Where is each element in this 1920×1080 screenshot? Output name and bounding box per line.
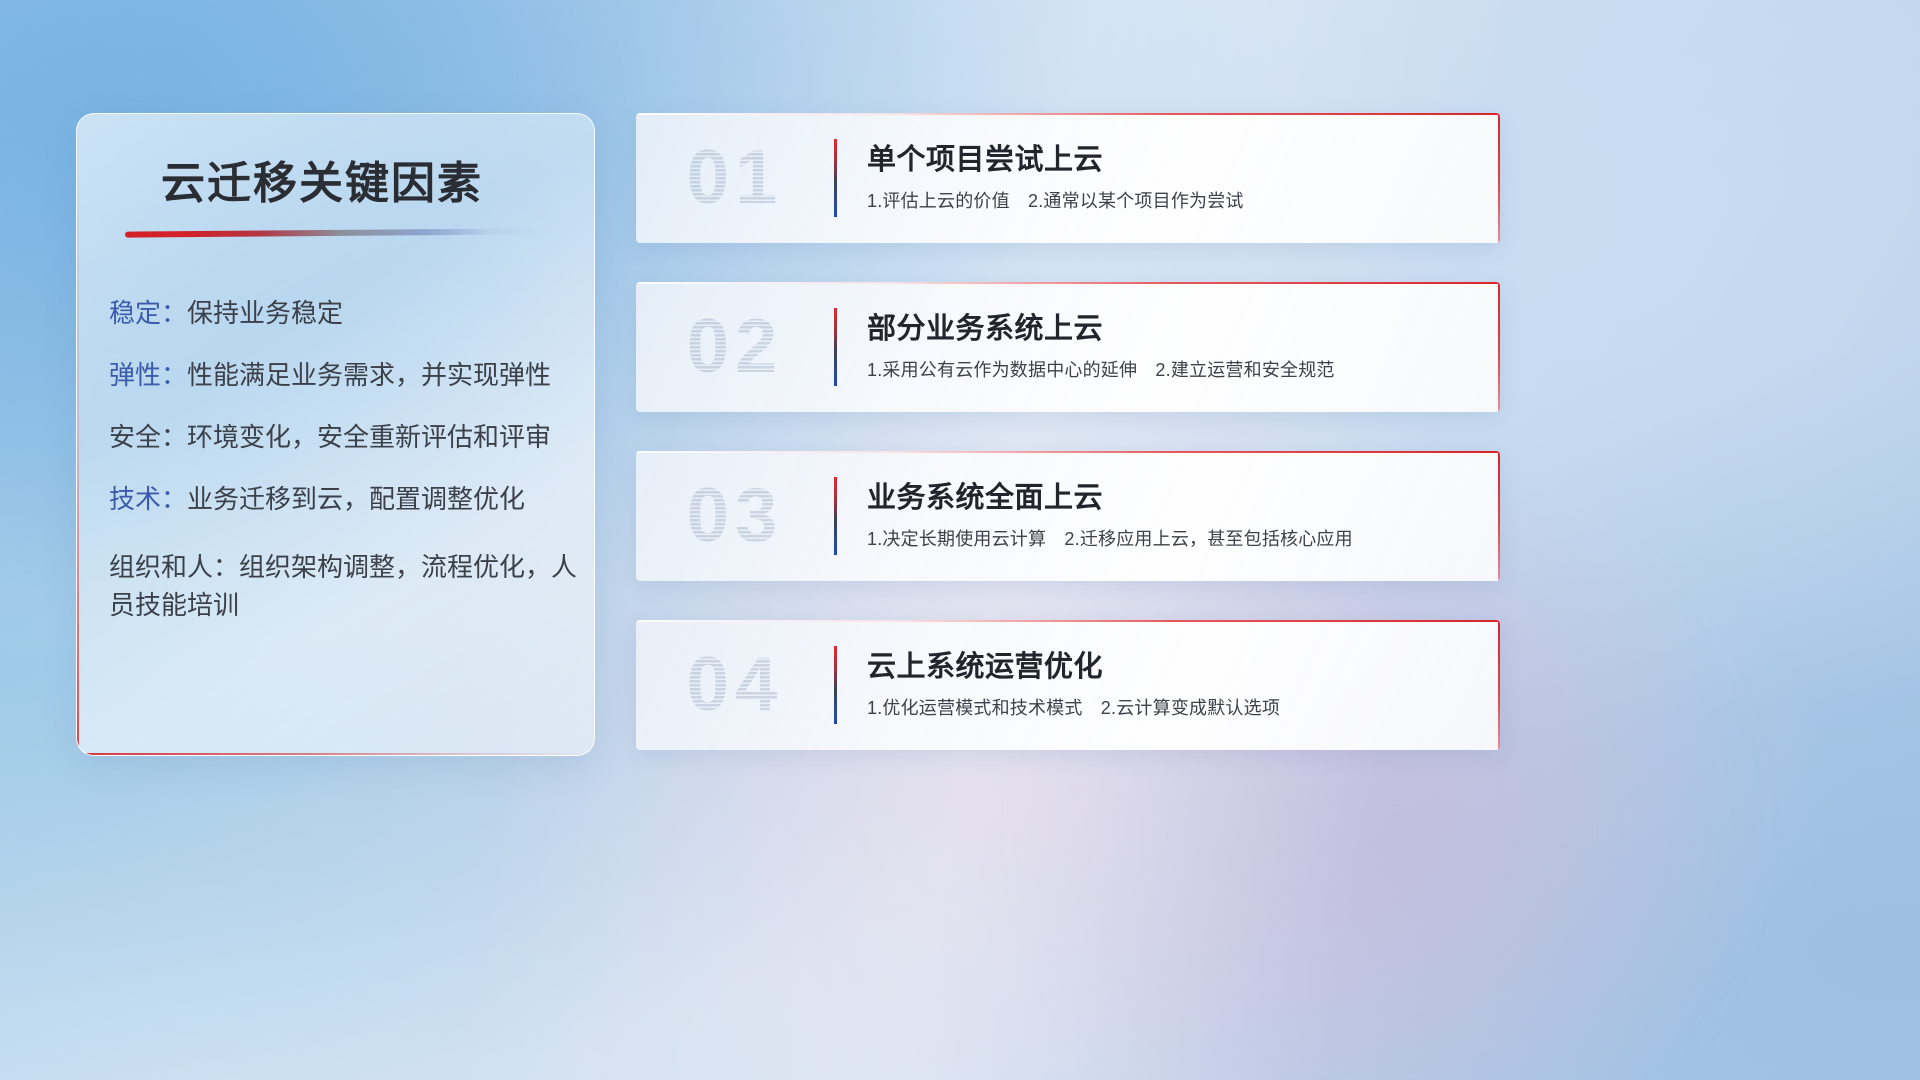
step-text-block: 部分业务系统上云 1.采用公有云作为数据中心的延伸 2.建立运营和安全规范 (867, 312, 1500, 381)
step-number: 02 (636, 282, 834, 412)
step-text-block: 云上系统运营优化 1.优化运营模式和技术模式 2.云计算变成默认选项 (867, 650, 1500, 719)
key-factors-list: 稳定：保持业务稳定 弹性：性能满足业务需求，并实现弹性 安全：环境变化，安全重新… (109, 300, 594, 625)
step-title: 部分业务系统上云 (867, 312, 1476, 347)
factor-key: 组织和人： (109, 552, 239, 582)
step-card[interactable]: 03 业务系统全面上云 1.决定长期使用云计算 2.迁移应用上云，甚至包括核心应… (636, 451, 1500, 581)
factor-value: 性能满足业务需求，并实现弹性 (187, 360, 551, 390)
step-subtitle: 1.采用公有云作为数据中心的延伸 2.建立运营和安全规范 (867, 360, 1476, 382)
factor-value: 保持业务稳定 (187, 298, 343, 328)
step-divider-bar (834, 139, 837, 217)
factor-key: 稳定： (109, 298, 187, 328)
page-title: 云迁移关键因素 (161, 162, 594, 206)
step-card[interactable]: 02 部分业务系统上云 1.采用公有云作为数据中心的延伸 2.建立运营和安全规范 (636, 282, 1500, 412)
slide-stage: 云迁移关键因素 稳定：保持业务稳定 弹性：性能满足业务需求，并实现弹性 安全：环… (0, 0, 1920, 1080)
step-text-block: 单个项目尝试上云 1.评估上云的价值 2.通常以某个项目作为尝试 (867, 143, 1500, 212)
step-title: 云上系统运营优化 (867, 650, 1476, 685)
step-subtitle: 1.决定长期使用云计算 2.迁移应用上云，甚至包括核心应用 (867, 529, 1476, 551)
migration-steps-list: 01 单个项目尝试上云 1.评估上云的价值 2.通常以某个项目作为尝试 02 部… (636, 113, 1500, 789)
step-subtitle: 1.优化运营模式和技术模式 2.云计算变成默认选项 (867, 698, 1476, 720)
step-divider-bar (834, 308, 837, 386)
factor-value: 业务迁移到云，配置调整优化 (187, 484, 525, 514)
step-number: 04 (636, 620, 834, 750)
step-text-block: 业务系统全面上云 1.决定长期使用云计算 2.迁移应用上云，甚至包括核心应用 (867, 481, 1500, 550)
list-item: 组织和人：组织架构调整，流程优化，人员技能培训 (109, 548, 594, 625)
list-item: 弹性：性能满足业务需求，并实现弹性 (109, 362, 594, 388)
step-number: 03 (636, 451, 834, 581)
factor-value: 环境变化，安全重新评估和评审 (187, 422, 551, 452)
step-card[interactable]: 04 云上系统运营优化 1.优化运营模式和技术模式 2.云计算变成默认选项 (636, 620, 1500, 750)
list-item: 技术：业务迁移到云，配置调整优化 (109, 486, 594, 512)
step-number: 01 (636, 113, 834, 243)
step-divider-bar (834, 477, 837, 555)
step-title: 业务系统全面上云 (867, 481, 1476, 516)
key-factors-panel: 云迁移关键因素 稳定：保持业务稳定 弹性：性能满足业务需求，并实现弹性 安全：环… (76, 113, 595, 756)
step-title: 单个项目尝试上云 (867, 143, 1476, 178)
title-underline-rule (125, 228, 543, 237)
list-item: 安全：环境变化，安全重新评估和评审 (109, 424, 594, 450)
factor-key: 技术： (109, 484, 187, 514)
factor-key: 弹性： (109, 360, 187, 390)
step-card[interactable]: 01 单个项目尝试上云 1.评估上云的价值 2.通常以某个项目作为尝试 (636, 113, 1500, 243)
factor-key: 安全： (109, 422, 187, 452)
step-subtitle: 1.评估上云的价值 2.通常以某个项目作为尝试 (867, 191, 1476, 213)
step-divider-bar (834, 646, 837, 724)
list-item: 稳定：保持业务稳定 (109, 300, 594, 326)
